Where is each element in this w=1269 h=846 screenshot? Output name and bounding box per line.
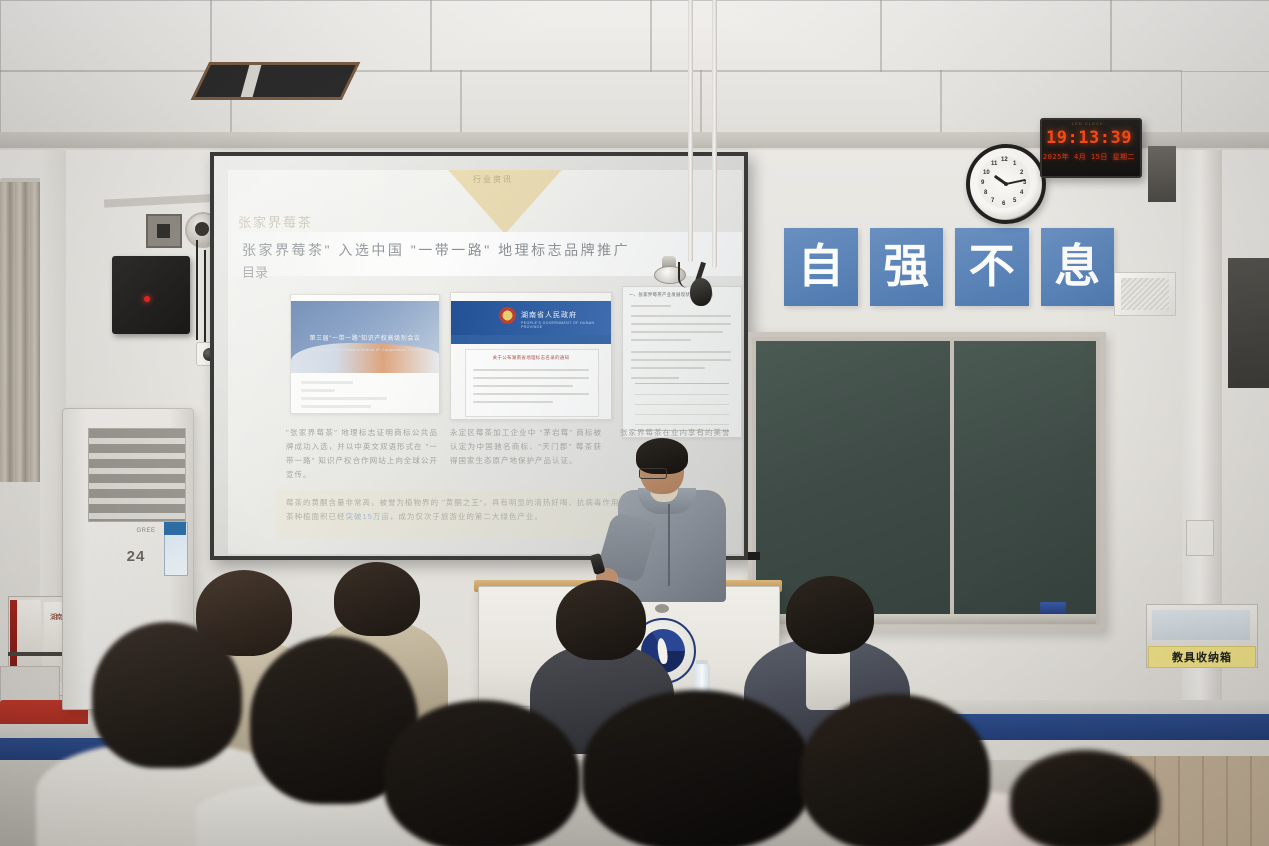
placeholder-line (301, 381, 353, 384)
wall-speaker-left (112, 256, 190, 334)
gov-site-name: 湖南省人民政府 (521, 310, 577, 320)
slide-text-column: 张家界莓茶在业内享有的美誉 (620, 426, 740, 440)
clock-number: 1 (1013, 161, 1016, 167)
gov-document-title: 关于公布湖南省地理标志名录的通知 (479, 355, 583, 361)
pdf-table (635, 383, 729, 431)
ceiling-tile (430, 0, 652, 72)
audience-shirt (806, 648, 850, 710)
window-curtain (0, 182, 44, 482)
cabinet-glass-door[interactable] (1152, 610, 1250, 640)
wall-socket[interactable] (1186, 520, 1214, 556)
placeholder-line (301, 389, 335, 392)
ceiling-tile (650, 0, 882, 72)
placeholder-line (473, 385, 573, 387)
digital-led-clock (1040, 118, 1142, 178)
motto-panel-2: 强 (870, 228, 944, 306)
right-dark-panel (1228, 258, 1269, 388)
placeholder-line (301, 405, 371, 408)
national-emblem-icon (499, 307, 516, 324)
table-row (635, 414, 729, 415)
slide-text-column: "张家界莓茶" 地理标志证明商标公共品牌成功入选，并以中英文双语形式在 "一带一… (286, 426, 438, 482)
speaker-cable (196, 240, 198, 340)
slide-brush-mark: 张家界莓茶 (238, 212, 313, 231)
analog-wall-clock: 12 1 2 3 4 5 6 7 8 9 10 11 (966, 144, 1046, 224)
microphone-rod (712, 0, 717, 268)
motto-panel-3: 不 (955, 228, 1029, 306)
ac-temperature-display: 24 (114, 548, 158, 570)
clock-number: 2 (1020, 170, 1023, 176)
digital-clock-brand: LED CLOCK (1072, 121, 1104, 126)
clock-number: 11 (991, 161, 997, 167)
wall-motto: 自 强 不 息 (784, 228, 1114, 306)
audience-head-foreground (800, 694, 990, 846)
placeholder-line (473, 369, 589, 371)
slide-title: 张家界莓茶" 入选中国 "一带一路" 地理标志品牌推广 (242, 240, 722, 261)
presenter-zipper (668, 504, 670, 586)
audience-head-foreground (92, 622, 242, 768)
placeholder-line (631, 339, 691, 341)
clock-number: 8 (984, 190, 987, 196)
clock-number: 9 (981, 180, 984, 186)
ceiling-tile (700, 70, 942, 136)
motto-character: 自 (798, 244, 844, 290)
placeholder-line (473, 393, 589, 395)
wall-panel (1148, 146, 1176, 202)
gov-site-name-en: PEOPLE'S GOVERNMENT OF HUNAN PROVINCE (521, 321, 611, 329)
slide-thumbnail-conference: 第三届"一带一路"知识产权高级别会议 The 3rd Belt and Road… (290, 294, 440, 414)
placeholder-line (301, 397, 387, 400)
motto-character: 不 (969, 244, 1015, 290)
clock-number: 6 (1002, 201, 1005, 207)
placeholder-line (631, 323, 731, 325)
motto-character: 强 (883, 244, 929, 290)
microphone-cable (678, 262, 702, 288)
audience-head-foreground (384, 700, 580, 846)
alarm-bell-icon (146, 214, 182, 248)
digital-clock-date: 2025年 4月 15日 星期二 (1040, 152, 1138, 162)
slide-title-tail: 目录 (242, 262, 268, 281)
slide-thumbnail-pdf: 一、张家界莓茶产业发展现状与前景分析 (622, 286, 742, 438)
placeholder-line (631, 377, 679, 379)
podium-emblem-mark (655, 604, 669, 613)
table-row (635, 404, 729, 405)
ceiling-tile (1110, 0, 1269, 72)
audience-head (334, 562, 420, 636)
clock-number: 5 (1013, 198, 1016, 204)
clock-number: 12 (1001, 157, 1008, 163)
wall-switch[interactable] (748, 552, 760, 560)
placeholder-line (631, 305, 671, 307)
clock-number: 4 (1020, 190, 1023, 196)
speaker-power-led-icon (144, 296, 150, 302)
wall-speaker-right (1114, 272, 1176, 316)
clock-number: 10 (983, 170, 990, 176)
audience-head-foreground (582, 690, 812, 846)
placeholder-line (631, 351, 731, 353)
ceiling-vent (191, 62, 361, 100)
conference-subhead: The 3rd Belt and Road Initiative IP Coop… (299, 347, 431, 352)
placeholder-line (631, 359, 731, 361)
lecture-hall-photo: 湖南日报 GREE 24 行业资讯 张家界莓茶 张家界莓茶" 入选中国 "一带一… (0, 0, 1269, 846)
audience-head-foreground (1010, 750, 1160, 846)
blackboard-eraser[interactable] (1040, 602, 1066, 614)
microphone-rod (688, 0, 693, 262)
slide-badge: 行业资讯 (473, 174, 513, 185)
cabinet-label: 教具收纳箱 (1148, 646, 1256, 668)
gov-site-nav (451, 335, 611, 344)
cabinet-label-text: 教具收纳箱 (1172, 649, 1232, 665)
presenter (612, 440, 728, 600)
motto-panel-1: 自 (784, 228, 858, 306)
ceiling-tile (0, 0, 212, 72)
audience-head (556, 580, 646, 660)
placeholder-line (473, 377, 589, 379)
ceiling-tile (0, 70, 232, 136)
speaker-cable (204, 250, 206, 346)
blackboard-panel-right (950, 337, 1100, 625)
placeholder-line (631, 315, 731, 317)
motto-panel-4: 息 (1041, 228, 1115, 306)
placeholder-line (631, 331, 723, 333)
slide-note-tail: ，成为仅次于旅游业的第二大绿色产业。 (390, 512, 543, 521)
ceiling-tile (880, 0, 1112, 72)
slide-text-column: 永定区莓茶加工企业中 "茅岩莓" 商标被认定为中国驰名商标、"天门郡" 莓茶获得… (450, 426, 602, 468)
motto-character: 息 (1054, 244, 1100, 290)
slide-note-highlight: 突破15万亩 (346, 512, 390, 521)
clock-number: 7 (991, 198, 994, 204)
table-row (635, 394, 729, 395)
ac-vent-grille (88, 428, 186, 522)
slide-thumbnail-government-site: 湖南省人民政府 PEOPLE'S GOVERNMENT OF HUNAN PRO… (450, 292, 612, 420)
clock-center-pin (1004, 182, 1008, 186)
placeholder-line (473, 401, 553, 403)
conference-headline: 第三届"一带一路"知识产权高级别会议 (299, 333, 431, 342)
placeholder-line (631, 367, 705, 369)
glasses-icon (639, 468, 667, 479)
table-row (635, 424, 729, 425)
ceiling-tile (460, 70, 702, 136)
audience-head (786, 576, 874, 654)
ac-energy-badge-header (164, 522, 186, 535)
digital-clock-time: 19:13:39 (1040, 128, 1138, 148)
